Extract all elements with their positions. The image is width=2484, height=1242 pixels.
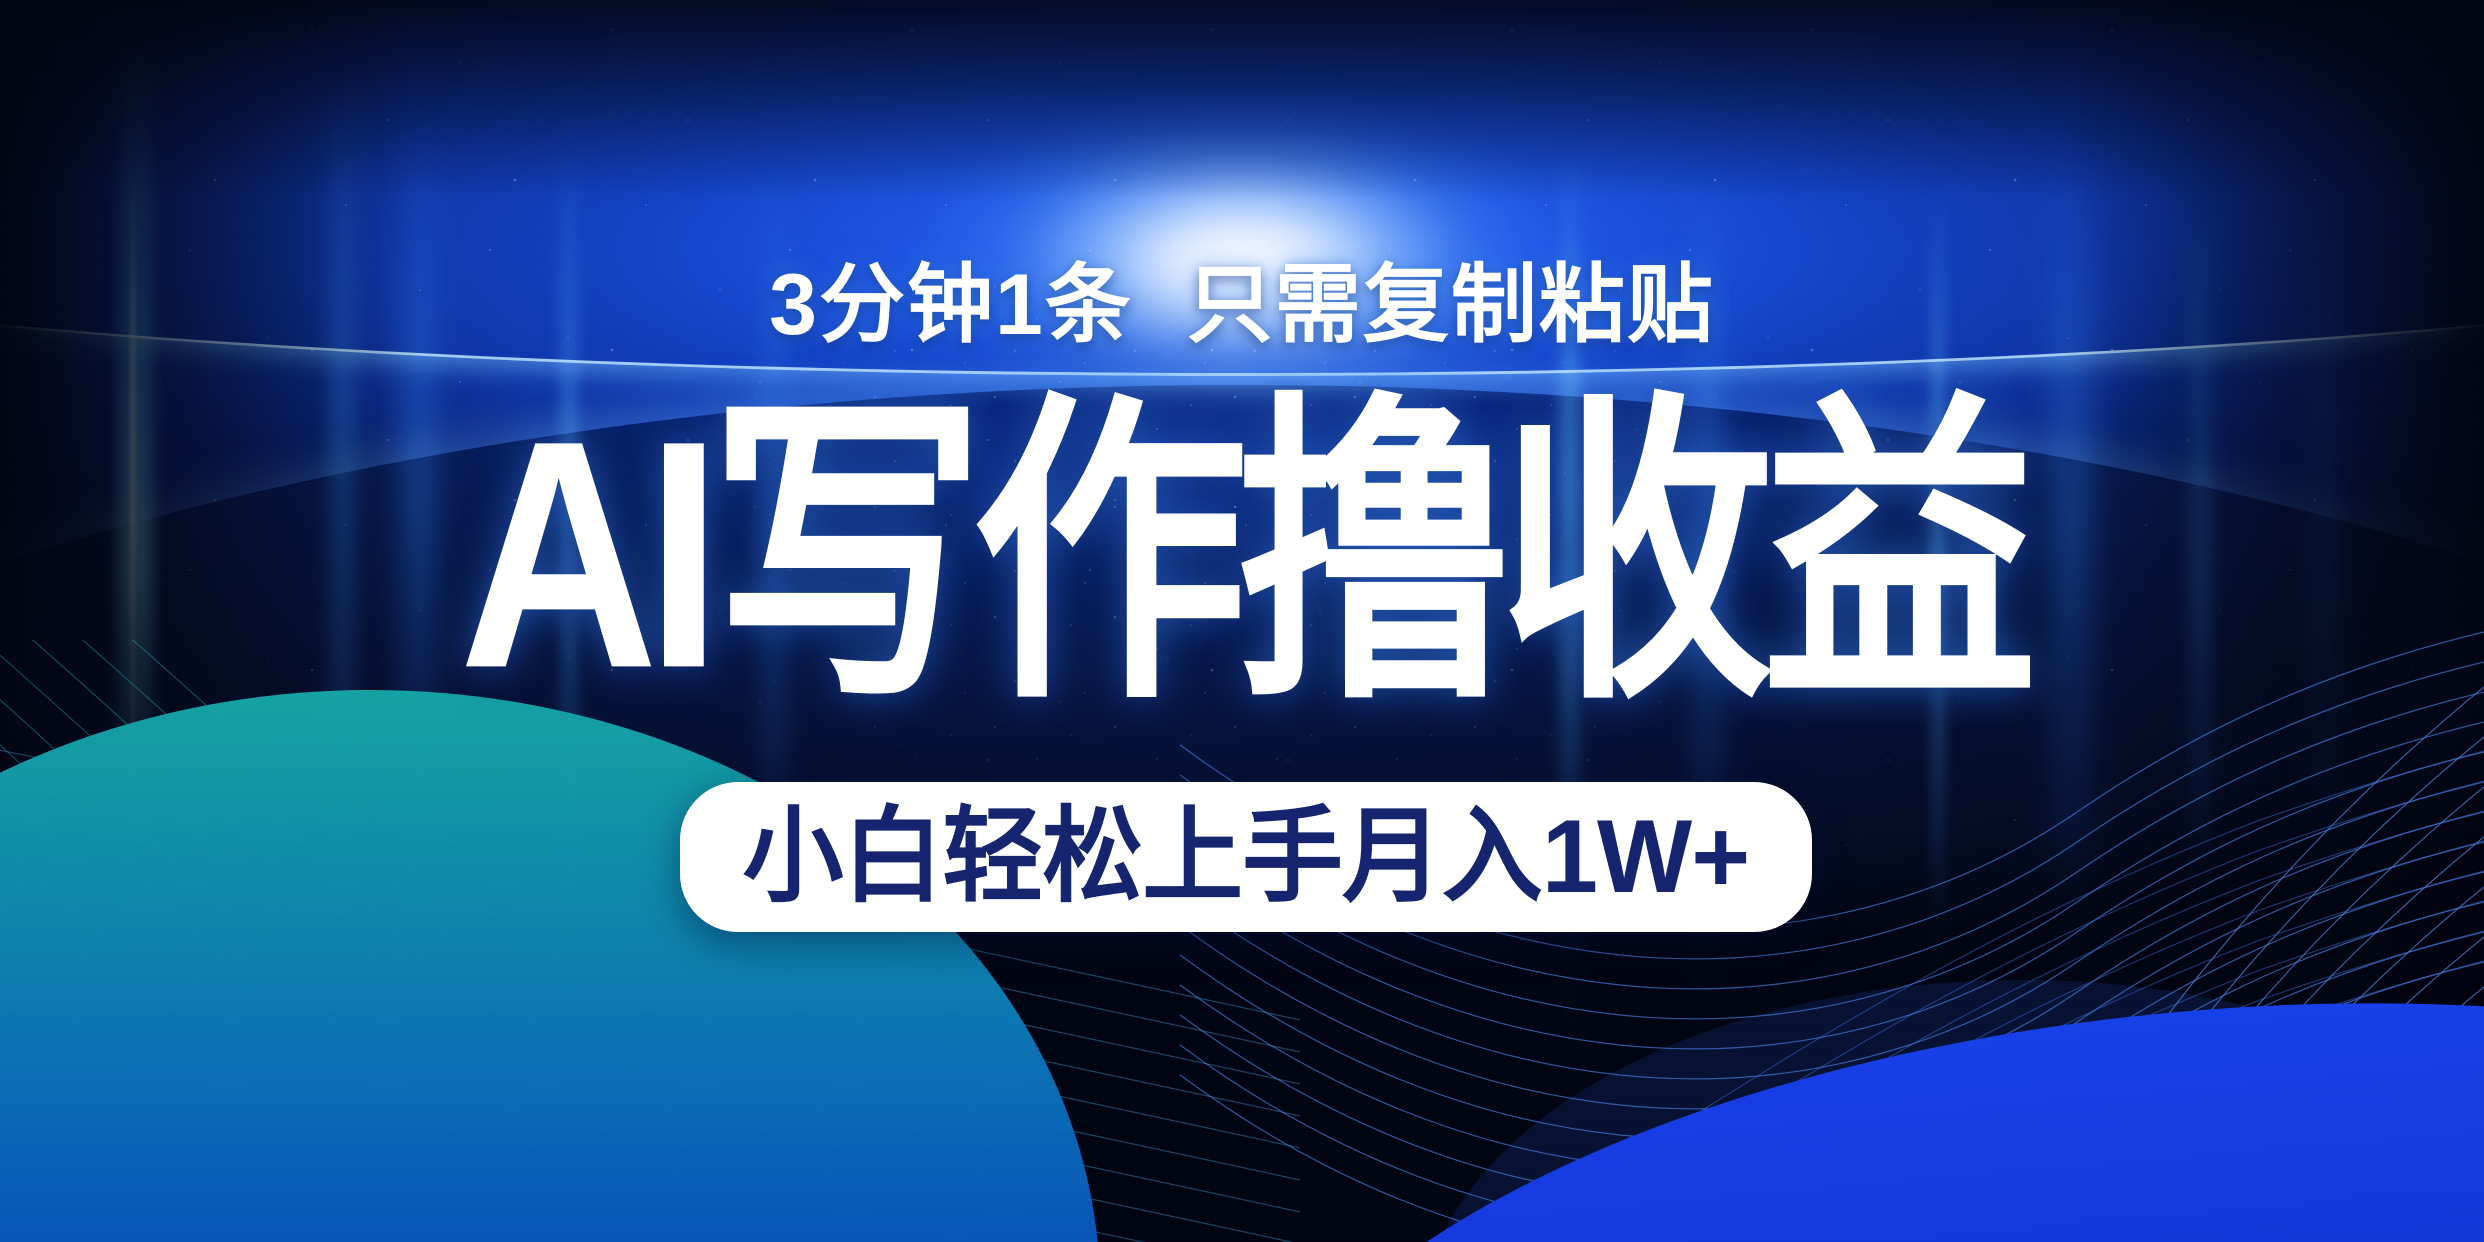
subtitle-pill: 小白轻松上手月入1W+ <box>680 782 1812 932</box>
kicker-right-text: 只需复制粘贴 <box>1187 257 1715 353</box>
subtitle-pill-text: 小白轻松上手月入1W+ <box>743 805 1750 909</box>
page-title: AI写作撸收益 <box>99 392 2384 716</box>
poster-content: 3分钟1条只需复制粘贴 AI写作撸收益 小白轻松上手月入1W+ <box>0 0 2484 1242</box>
kicker-line: 3分钟1条只需复制粘贴 <box>0 262 2484 348</box>
kicker-left-text: 3分钟1条 <box>769 257 1133 353</box>
poster-canvas: 3分钟1条只需复制粘贴 AI写作撸收益 小白轻松上手月入1W+ <box>0 0 2484 1242</box>
